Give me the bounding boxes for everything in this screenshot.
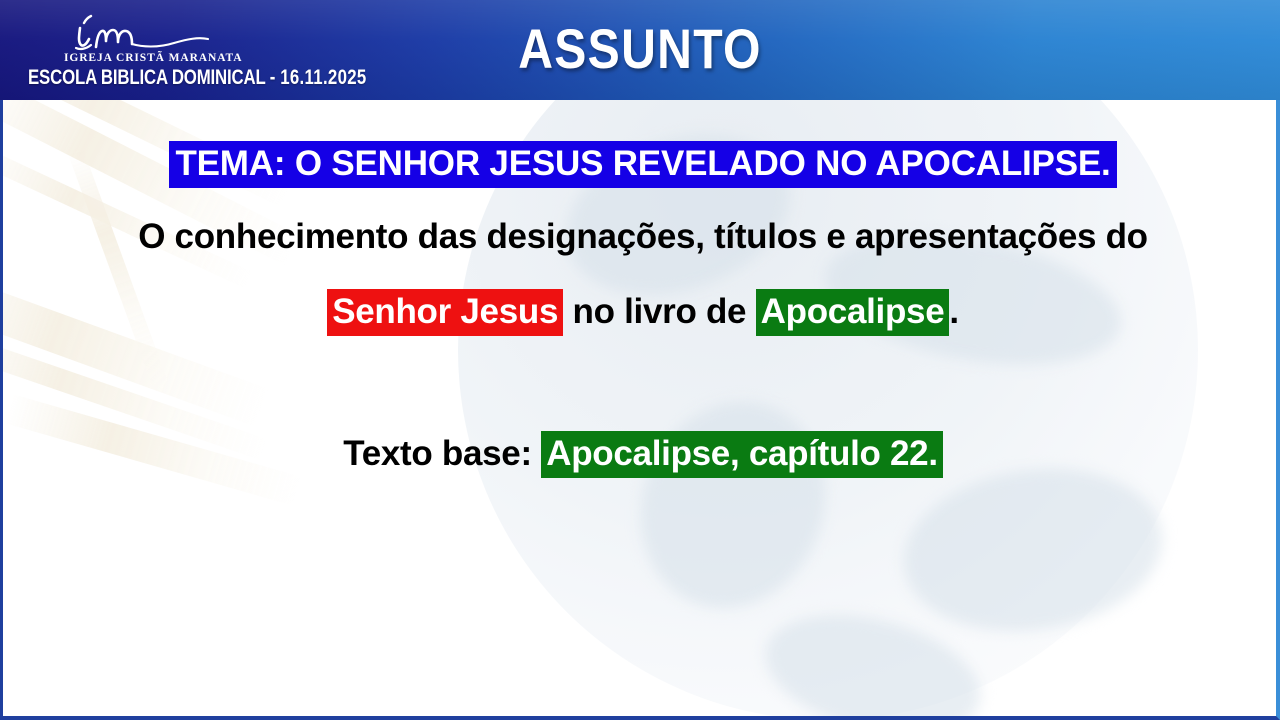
paragraph-period: . bbox=[949, 292, 958, 331]
tema-line: TEMA: O SENHOR JESUS REVELADO NO APOCALI… bbox=[3, 144, 1280, 184]
paragraph-line-2: Senhor Jesus no livro de Apocalipse. bbox=[3, 292, 1280, 332]
tema-highlight: TEMA: O SENHOR JESUS REVELADO NO APOCALI… bbox=[169, 141, 1116, 188]
texto-base-line: Texto base: Apocalipse, capítulo 22. bbox=[3, 434, 1280, 474]
slide-content: TEMA: O SENHOR JESUS REVELADO NO APOCALI… bbox=[0, 100, 1280, 720]
slide-header: IGREJA CRISTÃ MARANATA ESCOLA BIBLICA DO… bbox=[0, 0, 1280, 100]
apocalipse-highlight: Apocalipse bbox=[756, 289, 950, 336]
presentation-slide: IGREJA CRISTÃ MARANATA ESCOLA BIBLICA DO… bbox=[0, 0, 1280, 720]
slide-text-layer: TEMA: O SENHOR JESUS REVELADO NO APOCALI… bbox=[3, 100, 1280, 720]
texto-base-reference-highlight: Apocalipse, capítulo 22. bbox=[541, 431, 943, 478]
paragraph-connector: no livro de bbox=[563, 292, 756, 331]
paragraph-line-1: O conhecimento das designações, títulos … bbox=[3, 217, 1280, 257]
page-title: ASSUNTO bbox=[90, 16, 1191, 81]
senhor-jesus-highlight: Senhor Jesus bbox=[327, 289, 563, 336]
texto-base-label: Texto base: bbox=[343, 434, 541, 473]
